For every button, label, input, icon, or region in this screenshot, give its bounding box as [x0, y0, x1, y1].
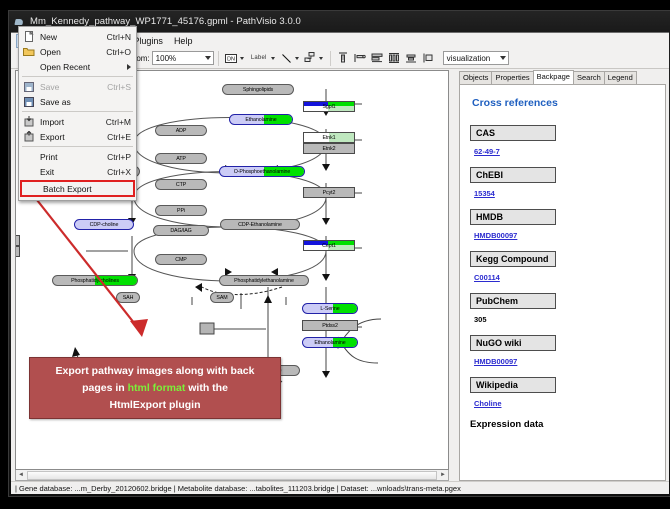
xref-source-label: CAS [470, 125, 556, 141]
xref-link[interactable]: C00114 [474, 273, 500, 282]
xref-block: PubChem305 [470, 293, 655, 327]
xref-source-label: NuGO wiki [470, 335, 556, 351]
pathway-node-l-serine[interactable]: L-Serine [302, 303, 358, 314]
xref-value-row: 305 [470, 309, 655, 327]
pathway-node-cdp-choline[interactable]: CDP-choline [74, 219, 134, 230]
pathway-node-dag-dag[interactable]: DAG/IAG [153, 225, 209, 236]
tab-backpage[interactable]: Backpage [533, 70, 574, 84]
cross-references-title: Cross references [472, 97, 655, 109]
file-menu-item-batch-export[interactable]: Batch Export [20, 180, 135, 197]
menu-item-no-icon [24, 182, 40, 195]
file-menu-item-shortcut: Ctrl+E [107, 132, 136, 142]
annotation-line-2-b: with the [185, 382, 228, 394]
align-horizontal-tool-icon[interactable] [370, 51, 385, 66]
pathway-node-label: Ethanolamine [245, 117, 276, 123]
tab-legend[interactable]: Legend [604, 71, 637, 84]
pathway-gene-label: Pcyt2 [323, 190, 336, 196]
xref-link[interactable]: 15354 [474, 189, 495, 198]
file-menu-item-shortcut: Ctrl+N [107, 32, 136, 42]
pathway-node-label: Ethanolamine [314, 340, 345, 346]
datanode-dropdown-icon[interactable] [240, 57, 244, 60]
xref-link[interactable]: HMDB00097 [474, 231, 517, 240]
file-menu-item-export[interactable]: ExportCtrl+E [19, 129, 136, 144]
visualization-combo[interactable]: visualization [443, 51, 509, 65]
pathway-gene-label: Ptdss2 [322, 323, 338, 329]
pathway-node-ethanolamine-2[interactable]: Ethanolamine [302, 337, 358, 348]
export-icon [21, 130, 37, 143]
common-size-tool-icon[interactable] [421, 51, 436, 66]
file-menu-item-label: New [40, 32, 107, 42]
menu-separator [22, 76, 133, 77]
file-menu-item-label: Exit [40, 167, 107, 177]
xref-value-row: 62-49-7 [470, 141, 655, 159]
new-document-icon [21, 30, 37, 43]
align-left-tool-icon[interactable] [353, 51, 368, 66]
canvas-horizontal-scrollbar[interactable]: ◄ ► [15, 470, 449, 481]
file-menu-item-shortcut: Ctrl+O [106, 47, 136, 57]
menu-item-no-icon [21, 165, 37, 178]
datanode-tool-icon[interactable]: DN [224, 51, 239, 66]
scroll-left-icon[interactable]: ◄ [16, 471, 26, 480]
xref-source-label: PubChem [470, 293, 556, 309]
file-menu-dropdown[interactable]: NewCtrl+NOpenCtrl+OOpen RecentSaveCtrl+S… [18, 26, 137, 201]
xref-link[interactable]: Choline [474, 399, 502, 408]
status-text: | Gene database: ...m_Derby_20120602.bri… [15, 484, 461, 493]
pathway-gene-pcyt1a[interactable]: Pcyt1a [15, 246, 20, 257]
pathway-node-adp[interactable]: ADP [155, 125, 207, 136]
align-top-tool-icon[interactable] [336, 51, 351, 66]
cross-references-list: CAS62-49-7ChEBI15354HMDBHMDB00097Kegg Co… [470, 125, 655, 411]
xref-value-row: HMDB00097 [470, 351, 655, 369]
menu-item-no-icon [21, 150, 37, 163]
chevron-down-icon-2 [500, 56, 506, 60]
pathway-node-label: Phosphatidylethanolamine [234, 278, 294, 284]
pathway-node-o-phosphoeth[interactable]: O-Phosphoethanolamine [219, 166, 305, 177]
xref-source-label: Wikipedia [470, 377, 556, 393]
pathway-node-label: L-Serine [320, 306, 339, 312]
pathway-gene-ptdss2[interactable]: Ptdss2 [302, 320, 358, 331]
xref-block: Kegg CompoundC00114 [470, 251, 655, 285]
pathway-node-ptd-eth[interactable]: Phosphatidylethanolamine [219, 275, 309, 286]
screenshot-root: Mm_Kennedy_pathway_WP1771_45176.gpml - P… [0, 0, 670, 509]
save-as-icon [21, 95, 37, 108]
file-menu-item-label: Import [40, 117, 106, 127]
file-menu-item-exit[interactable]: ExitCtrl+X [19, 164, 136, 179]
annotation-line-1: Export pathway images along with back [30, 363, 280, 380]
pathway-gene-etnk1[interactable]: Etnk1 [303, 132, 355, 143]
menu-separator [22, 146, 133, 147]
side-panel: Objects Properties Backpage Search Legen… [451, 69, 669, 481]
pathway-node-atp[interactable]: ATP [155, 153, 207, 164]
application-window: Mm_Kennedy_pathway_WP1771_45176.gpml - P… [8, 10, 670, 497]
pathway-node-label: ADP [176, 128, 187, 134]
pathway-node-label: Sphingolipids [243, 87, 273, 93]
line-dropdown-icon[interactable] [295, 57, 299, 60]
file-menu-item-label: Print [40, 152, 107, 162]
file-menu-item-open[interactable]: OpenCtrl+O [19, 44, 136, 59]
toolbar-separator [218, 51, 219, 66]
import-icon [21, 115, 37, 128]
shape-tool-icon[interactable] [303, 51, 318, 66]
menu-item-no-icon [21, 60, 37, 73]
pathway-node-label: SAM [216, 295, 227, 301]
annotation-line-3: HtmlExport plugin [30, 397, 280, 414]
file-menu-item-shortcut: Ctrl+P [107, 152, 136, 162]
open-folder-icon [21, 45, 37, 58]
pathway-node-sah-1[interactable]: SAH [116, 292, 140, 303]
line-tool-icon[interactable] [279, 51, 294, 66]
xref-source-label: ChEBI [470, 167, 556, 183]
menu-help[interactable]: Help [169, 34, 198, 48]
file-menu-item-import[interactable]: ImportCtrl+M [19, 114, 136, 129]
file-menu-item-print[interactable]: PrintCtrl+P [19, 149, 136, 164]
file-menu-item-save: SaveCtrl+S [19, 79, 136, 94]
pathway-node-cmp[interactable]: CMP [155, 254, 207, 265]
xref-value-row: Choline [470, 393, 655, 411]
xref-value-row: 15354 [470, 183, 655, 201]
tab-search[interactable]: Search [573, 71, 605, 84]
file-menu-item-label: Export [40, 132, 107, 142]
tab-properties[interactable]: Properties [491, 71, 533, 84]
pathway-gene-pcyt1b[interactable]: Pcyt1b [15, 235, 20, 246]
xref-block: NuGO wikiHMDB00097 [470, 335, 655, 369]
pathway-node-label: ATP [176, 156, 186, 162]
zoom-value: 100% [156, 54, 176, 63]
pathway-node-sphingolipids[interactable]: Sphingolipids [222, 84, 294, 95]
file-menu-item-shortcut: Ctrl+X [107, 167, 136, 177]
pathway-gene-cept1[interactable]: Cept1 [303, 240, 355, 251]
pathway-node-label: SAH [123, 295, 134, 301]
shape-dropdown-icon[interactable] [319, 57, 323, 60]
backpage-panel: Cross references CAS62-49-7ChEBI15354HMD… [459, 84, 666, 481]
pathway-gene-pcyt2[interactable]: Pcyt2 [303, 187, 355, 198]
xref-block: HMDBHMDB00097 [470, 209, 655, 243]
pathway-node-ctp[interactable]: CTP [155, 179, 207, 190]
annotation-line-2-a: pages in [82, 382, 128, 394]
file-menu-item-shortcut: Ctrl+S [107, 82, 136, 92]
file-menu-item-label: Save [40, 82, 107, 92]
scroll-thumb[interactable] [27, 471, 437, 480]
label-tool-icon[interactable]: Label [248, 51, 270, 66]
label-dropdown-icon[interactable] [271, 57, 275, 60]
file-menu-item-new[interactable]: NewCtrl+N [19, 29, 136, 44]
xref-link[interactable]: 62-49-7 [474, 147, 500, 156]
pathway-gene-label: Etnk2 [322, 146, 335, 152]
xref-value: 305 [474, 315, 487, 324]
annotation-highlight: html format [128, 382, 186, 394]
zoom-combo[interactable]: 100% [152, 51, 214, 65]
xref-value-row: C00114 [470, 267, 655, 285]
pathway-gene-sgpl1[interactable]: Sgpl1 [303, 101, 355, 112]
side-panel-tabs: Objects Properties Backpage Search Legen… [454, 70, 666, 84]
pathway-node-ppi[interactable]: PPi [155, 205, 207, 216]
pathway-node-label: O-Phosphoethanolamine [234, 169, 291, 175]
file-menu-item-shortcut: Ctrl+M [106, 117, 136, 127]
pathway-node-label: CTP [176, 182, 186, 188]
pathway-node-sam-1[interactable]: SAM [210, 292, 234, 303]
xref-source-label: Kegg Compound [470, 251, 556, 267]
toolbar-separator-2 [330, 51, 331, 66]
pathway-gene-label: Cept1 [322, 243, 336, 249]
expression-data-title: Expression data [470, 419, 655, 430]
side-panel-gutter [451, 83, 456, 481]
pathway-node-cdp-eth[interactable]: CDP-Ethanolamine [220, 219, 300, 230]
file-menu-item-label: Open Recent [40, 62, 127, 72]
xref-link[interactable]: HMDB00097 [474, 357, 517, 366]
visualization-value: visualization [447, 54, 491, 63]
tab-objects[interactable]: Objects [459, 71, 492, 84]
xref-block: WikipediaCholine [470, 377, 655, 411]
xref-value-row: HMDB00097 [470, 225, 655, 243]
submenu-chevron-right-icon [127, 64, 131, 70]
status-bar: | Gene database: ...m_Derby_20120602.bri… [11, 481, 669, 494]
file-menu-item-label: Save as [40, 97, 131, 107]
pathway-node-label: PPi [177, 208, 185, 214]
pathway-node-label: DAG/IAG [170, 228, 191, 234]
stack-tool-icon[interactable] [404, 51, 419, 66]
label-tool-text: Label [251, 55, 267, 61]
file-menu-item-label: Batch Export [43, 184, 128, 194]
menu-separator [22, 111, 133, 112]
pathway-gene-label: Sgpl1 [322, 104, 335, 110]
pathway-node-label: CDP-Ethanolamine [238, 222, 282, 228]
pathway-node-label: CDP-choline [90, 222, 119, 228]
pathway-gene-label: Etnk1 [322, 135, 335, 141]
svg-text:DN: DN [227, 56, 235, 62]
pathway-node-label: Phosphatidylcholines [71, 278, 119, 284]
file-menu-item-open-recent[interactable]: Open Recent [19, 59, 136, 74]
xref-block: CAS62-49-7 [470, 125, 655, 159]
distribute-tool-icon[interactable] [387, 51, 402, 66]
xref-block: ChEBI15354 [470, 167, 655, 201]
file-menu-item-label: Open [40, 47, 106, 57]
xref-source-label: HMDB [470, 209, 556, 225]
pathway-node-ethanolamine-1[interactable]: Ethanolamine [229, 114, 293, 125]
annotation-line-2: pages in html format with the [30, 380, 280, 397]
file-menu-item-save-as[interactable]: Save as [19, 94, 136, 109]
pathway-gene-etnk2[interactable]: Etnk2 [303, 143, 355, 154]
scroll-right-icon[interactable]: ► [438, 471, 448, 480]
chevron-down-icon [205, 56, 211, 60]
pathway-node-label: CMP [175, 257, 186, 263]
annotation-callout: Export pathway images along with back pa… [29, 357, 281, 419]
save-disk-icon [21, 80, 37, 93]
pathway-node-ptd-cholines[interactable]: Phosphatidylcholines [52, 275, 138, 286]
